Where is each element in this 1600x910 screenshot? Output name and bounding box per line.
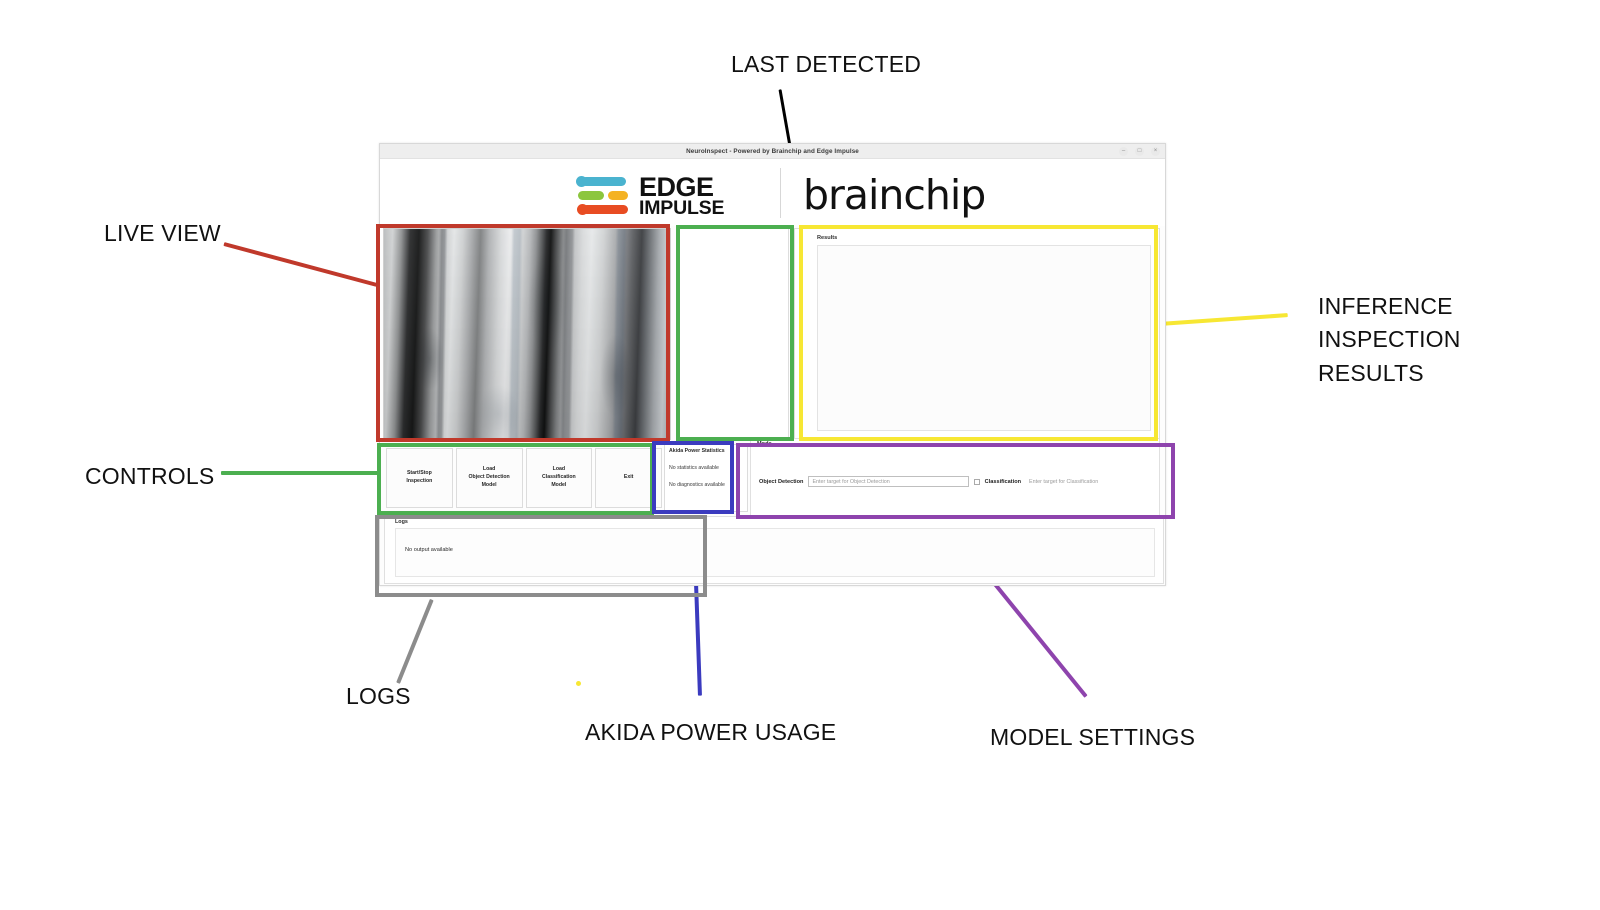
close-button[interactable]: × (1151, 147, 1160, 156)
annotation-box-model-settings (736, 443, 1175, 519)
leader-line-controls (221, 471, 381, 475)
annotation-box-logs (375, 515, 707, 597)
leader-line-live-view (224, 242, 378, 286)
callout-live-view: LIVE VIEW (104, 217, 221, 250)
brainchip-logo: brainchip (803, 171, 985, 219)
callout-controls: CONTROLS (85, 460, 214, 493)
callout-akida-power-usage: AKIDA POWER USAGE (585, 716, 836, 749)
edge-impulse-logo: EDGE IMPULSE (576, 175, 724, 218)
edge-impulse-line2: IMPULSE (639, 200, 724, 218)
leader-line-logs (397, 599, 434, 684)
edge-impulse-wordmark: EDGE IMPULSE (639, 175, 724, 218)
window-controls: – □ × (1119, 144, 1160, 159)
annotation-box-last-detected (676, 225, 794, 441)
stray-yellow-dot (576, 681, 581, 686)
callout-logs: LOGS (346, 680, 411, 713)
title-bar: NeuroInspect - Powered by Brainchip and … (380, 144, 1165, 159)
brand-header: EDGE IMPULSE brainchip (380, 159, 1165, 226)
callout-last-detected: LAST DETECTED (731, 48, 921, 81)
annotation-box-controls (377, 443, 654, 515)
callout-inference-results: INFERENCE INSPECTION RESULTS (1318, 290, 1461, 390)
callout-model-settings: MODEL SETTINGS (990, 721, 1195, 754)
annotation-box-akida-power (652, 441, 734, 514)
annotated-screenshot: LAST DETECTED LIVE VIEW INFERENCE INSPEC… (0, 0, 1600, 910)
window-title: NeuroInspect - Powered by Brainchip and … (686, 148, 859, 155)
annotation-box-live-view (376, 224, 670, 442)
minimize-button[interactable]: – (1119, 147, 1128, 156)
maximize-button[interactable]: □ (1135, 147, 1144, 156)
leader-line-inference (1160, 313, 1288, 325)
annotation-box-inference-results (799, 225, 1158, 441)
edge-impulse-bars-icon (576, 175, 632, 217)
brand-divider (780, 168, 781, 218)
